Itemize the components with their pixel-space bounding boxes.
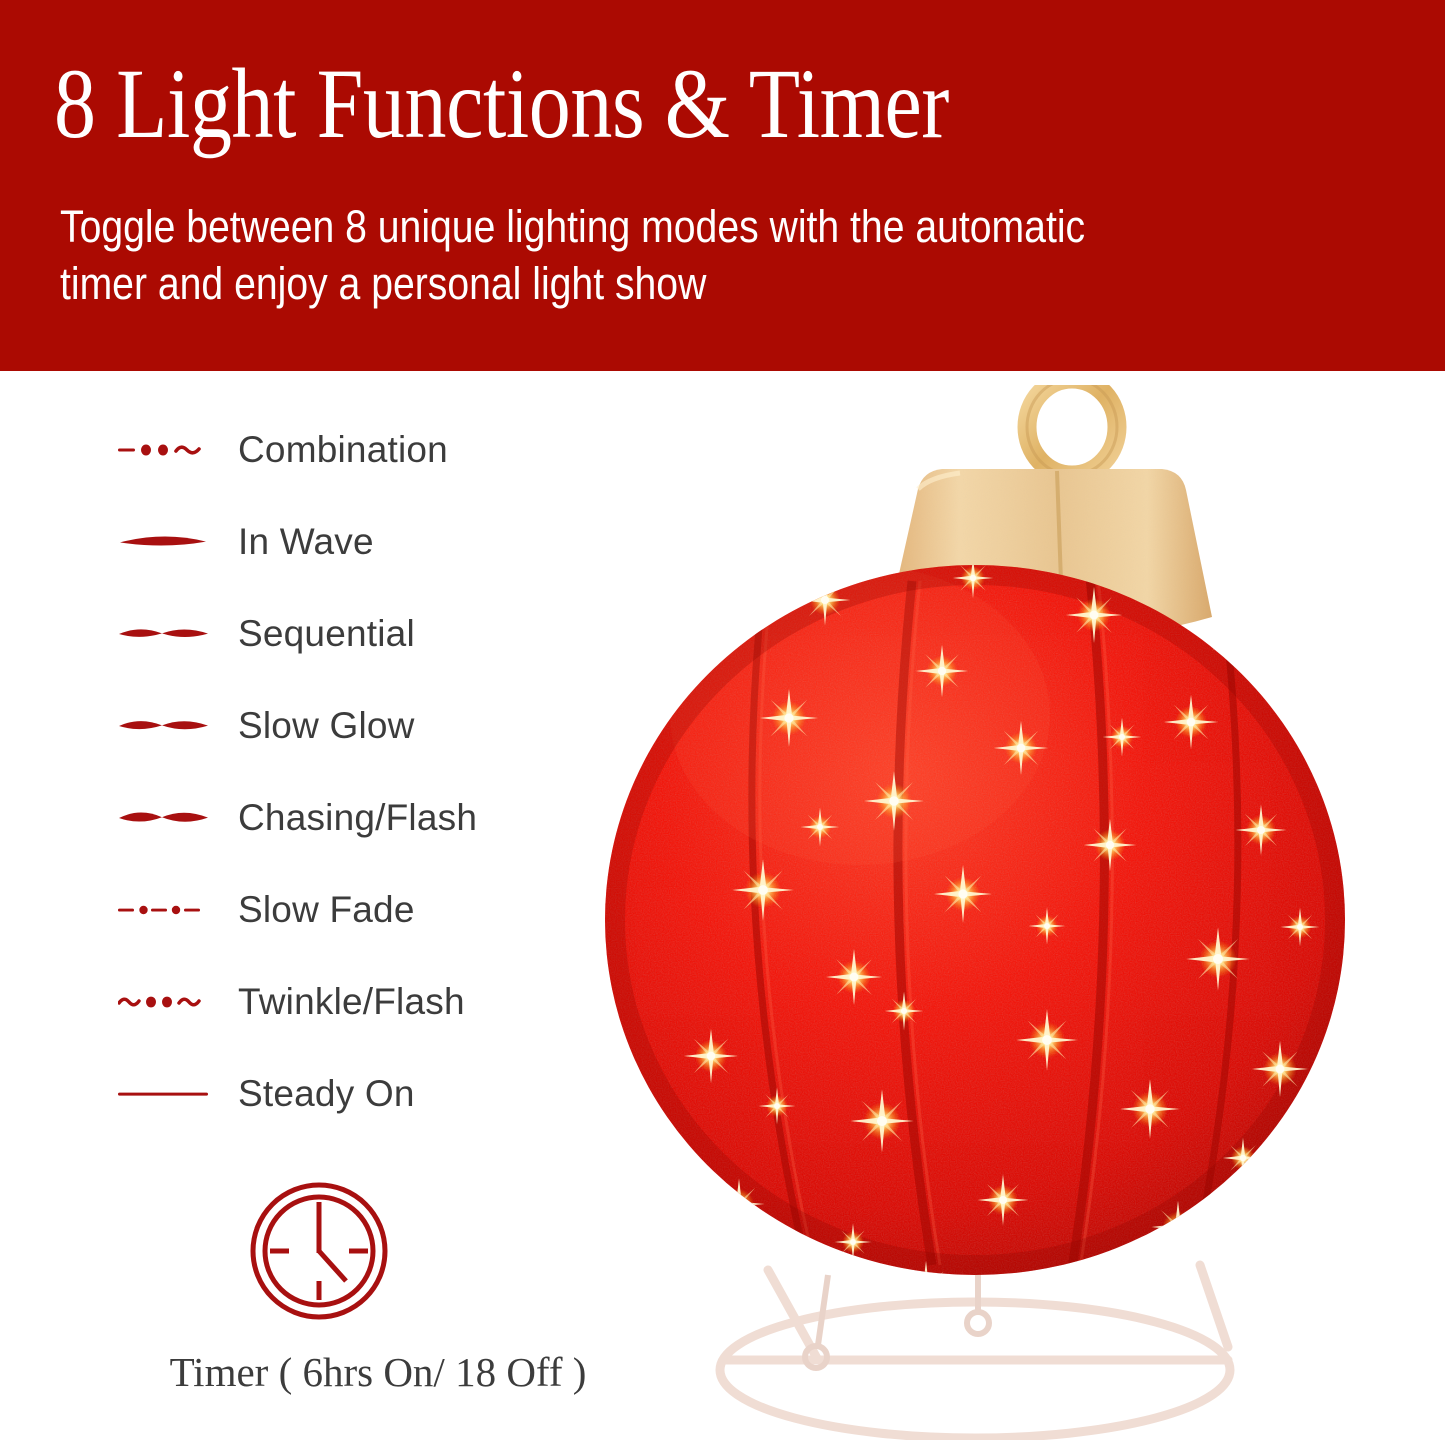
header-banner: 8 Light Functions & Timer Toggle between… xyxy=(0,0,1445,371)
light-functions-legend: Combination In Wave Sequential Slow Glow xyxy=(118,404,588,1140)
dash-dot-dot-tilde-icon xyxy=(118,430,210,470)
dash-dot-dash-dot-dash-icon xyxy=(118,890,210,930)
tilde-dot-dot-tilde-icon xyxy=(118,982,210,1022)
double-spindle-thick-icon xyxy=(118,798,210,838)
legend-item-slow-glow: Slow Glow xyxy=(118,680,588,772)
single-spindle-icon xyxy=(118,522,210,562)
legend-item-chasing-flash: Chasing/Flash xyxy=(118,772,588,864)
clock-icon xyxy=(248,1180,390,1322)
product-image xyxy=(560,385,1390,1440)
ornament-ball xyxy=(605,558,1345,1373)
legend-item-in-wave: In Wave xyxy=(118,496,588,588)
double-spindle-icon xyxy=(118,706,210,746)
legend-item-steady-on: Steady On xyxy=(118,1048,588,1140)
legend-label: Chasing/Flash xyxy=(238,798,477,838)
legend-item-slow-fade: Slow Fade xyxy=(118,864,588,956)
legend-item-combination: Combination xyxy=(118,404,588,496)
legend-label: Sequential xyxy=(238,614,415,654)
page-subtitle: Toggle between 8 unique lighting modes w… xyxy=(60,198,1139,312)
legend-label: Combination xyxy=(238,430,448,470)
stand-hooks xyxy=(805,1270,989,1368)
legend-label: Slow Glow xyxy=(238,706,415,746)
hanger-ring xyxy=(1027,385,1117,475)
legend-item-sequential: Sequential xyxy=(118,588,588,680)
legend-item-twinkle-flash: Twinkle/Flash xyxy=(118,956,588,1048)
legend-label: Twinkle/Flash xyxy=(238,982,465,1022)
legend-label: Steady On xyxy=(238,1074,415,1114)
legend-label: In Wave xyxy=(238,522,374,562)
ornament-illustration xyxy=(560,385,1390,1440)
infographic-page: 8 Light Functions & Timer Toggle between… xyxy=(0,0,1445,1445)
solid-line-icon xyxy=(118,1074,210,1114)
double-spindle-icon xyxy=(118,614,210,654)
legend-label: Slow Fade xyxy=(238,890,415,930)
page-title: 8 Light Functions & Timer xyxy=(54,52,1146,156)
